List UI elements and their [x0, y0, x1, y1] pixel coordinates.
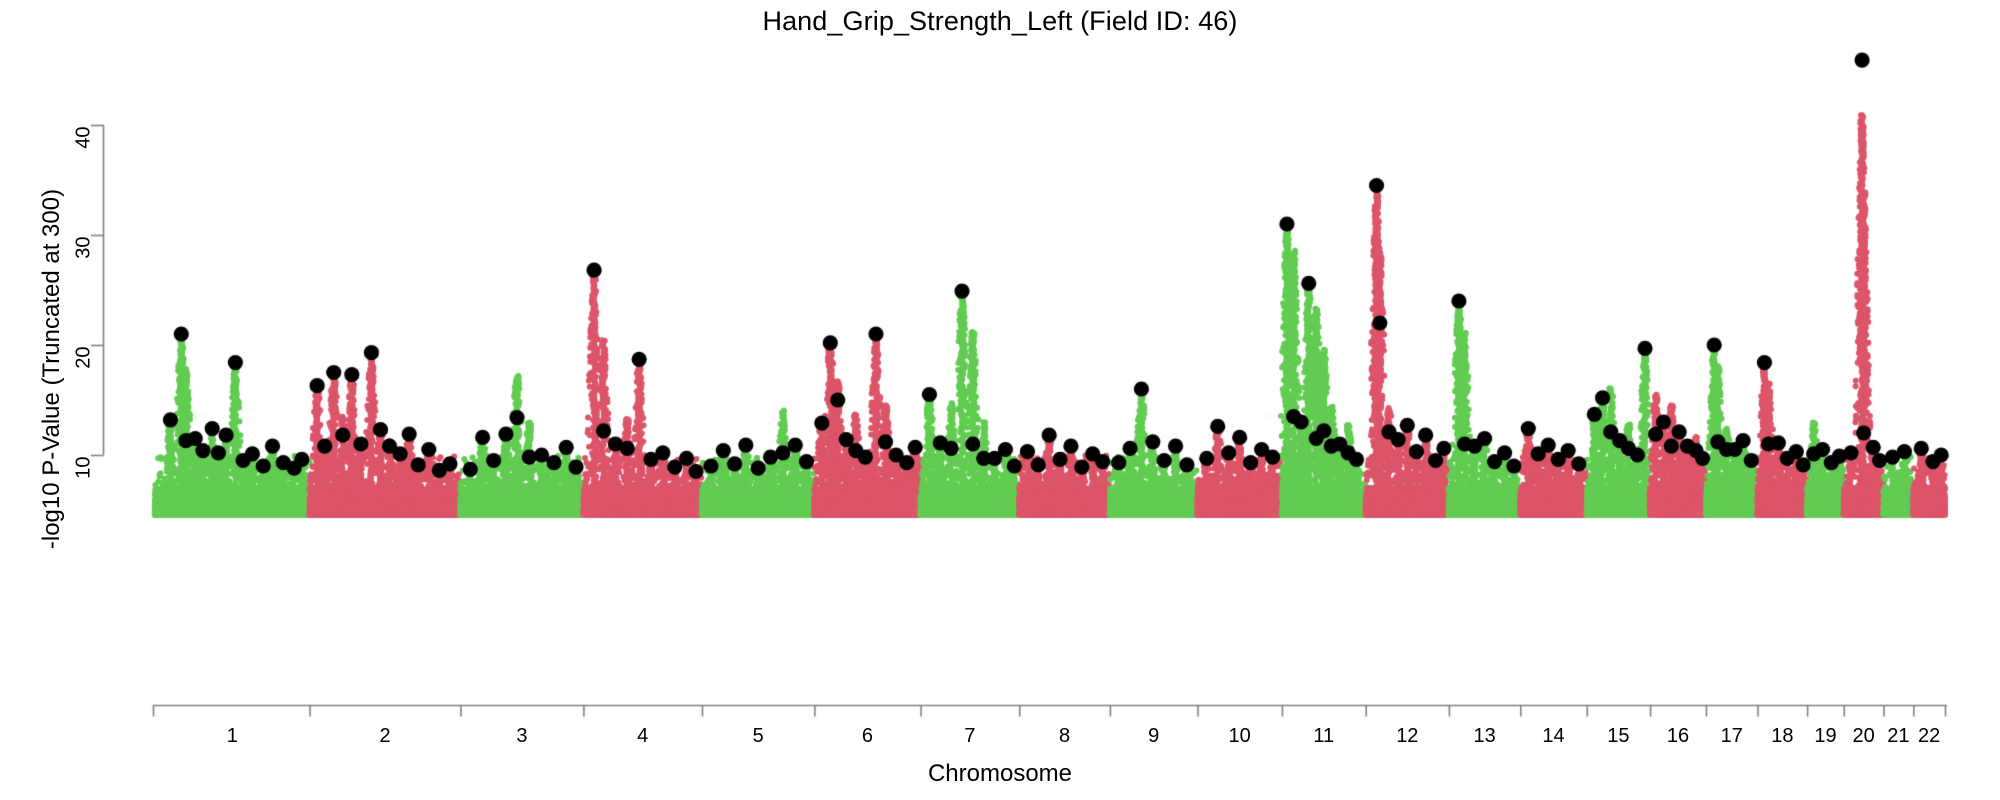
- x-tick-label-chr-2: 2: [362, 725, 408, 748]
- manhattan-plot-canvas: [0, 0, 2000, 800]
- x-tick-label-chr-9: 9: [1131, 725, 1177, 748]
- x-tick-label-chr-4: 4: [620, 725, 666, 748]
- x-tick-label-chr-13: 13: [1462, 725, 1508, 748]
- x-tick-label-chr-22: 22: [1906, 725, 1952, 748]
- x-tick-label-chr-5: 5: [735, 725, 781, 748]
- x-tick-label-chr-17: 17: [1709, 725, 1755, 748]
- manhattan-plot-page: Hand_Grip_Strength_Left (Field ID: 46) C…: [0, 0, 2000, 800]
- x-tick-label-chr-7: 7: [947, 725, 993, 748]
- x-axis-title: Chromosome: [0, 760, 2000, 788]
- y-tick-label-40: 40: [73, 127, 96, 167]
- y-axis-title: -log10 P-Value (Truncated at 300): [38, 89, 66, 649]
- x-tick-label-chr-18: 18: [1759, 725, 1805, 748]
- x-tick-label-chr-15: 15: [1595, 725, 1641, 748]
- y-tick-label-20: 20: [73, 347, 96, 387]
- x-tick-label-chr-14: 14: [1531, 725, 1577, 748]
- x-tick-label-chr-1: 1: [209, 725, 255, 748]
- y-tick-label-30: 30: [73, 237, 96, 277]
- x-tick-label-chr-16: 16: [1655, 725, 1701, 748]
- y-tick-label-10: 10: [73, 457, 96, 497]
- x-tick-label-chr-3: 3: [499, 725, 545, 748]
- x-tick-label-chr-8: 8: [1042, 725, 1088, 748]
- x-tick-label-chr-10: 10: [1217, 725, 1263, 748]
- x-tick-label-chr-12: 12: [1384, 725, 1430, 748]
- page-title: Hand_Grip_Strength_Left (Field ID: 46): [0, 6, 2000, 37]
- x-tick-label-chr-6: 6: [844, 725, 890, 748]
- x-tick-label-chr-11: 11: [1301, 725, 1347, 748]
